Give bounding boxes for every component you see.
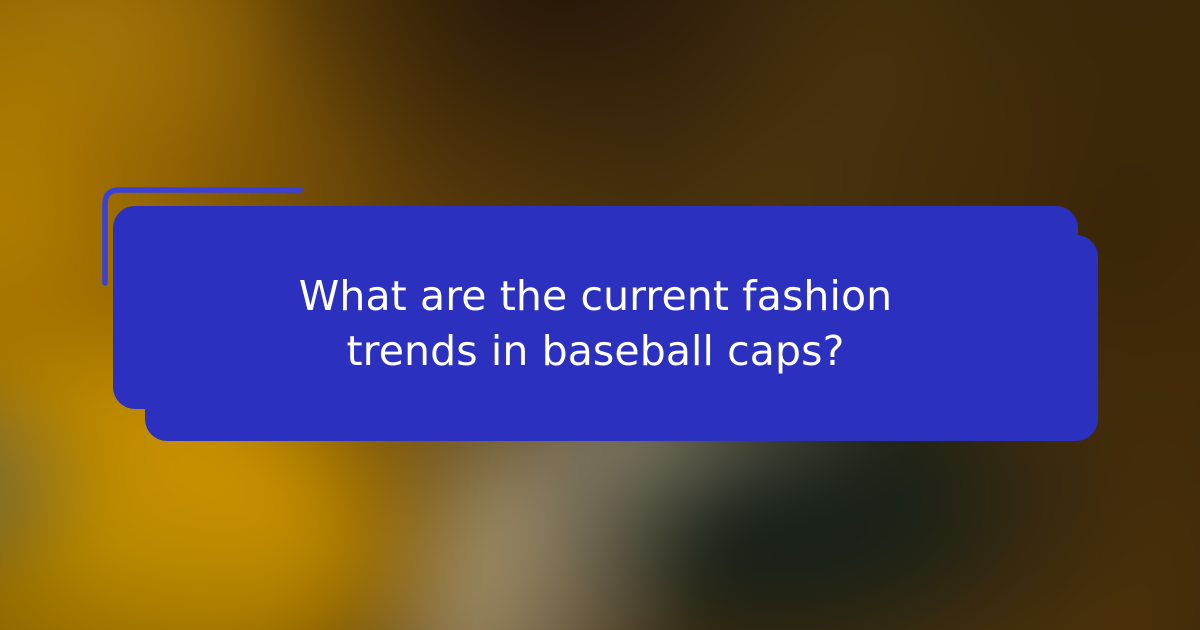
social-card-canvas: What are the current fashion trends in b… bbox=[0, 0, 1200, 630]
question-text: What are the current fashion trends in b… bbox=[246, 269, 946, 377]
question-card-content: What are the current fashion trends in b… bbox=[113, 206, 1078, 441]
